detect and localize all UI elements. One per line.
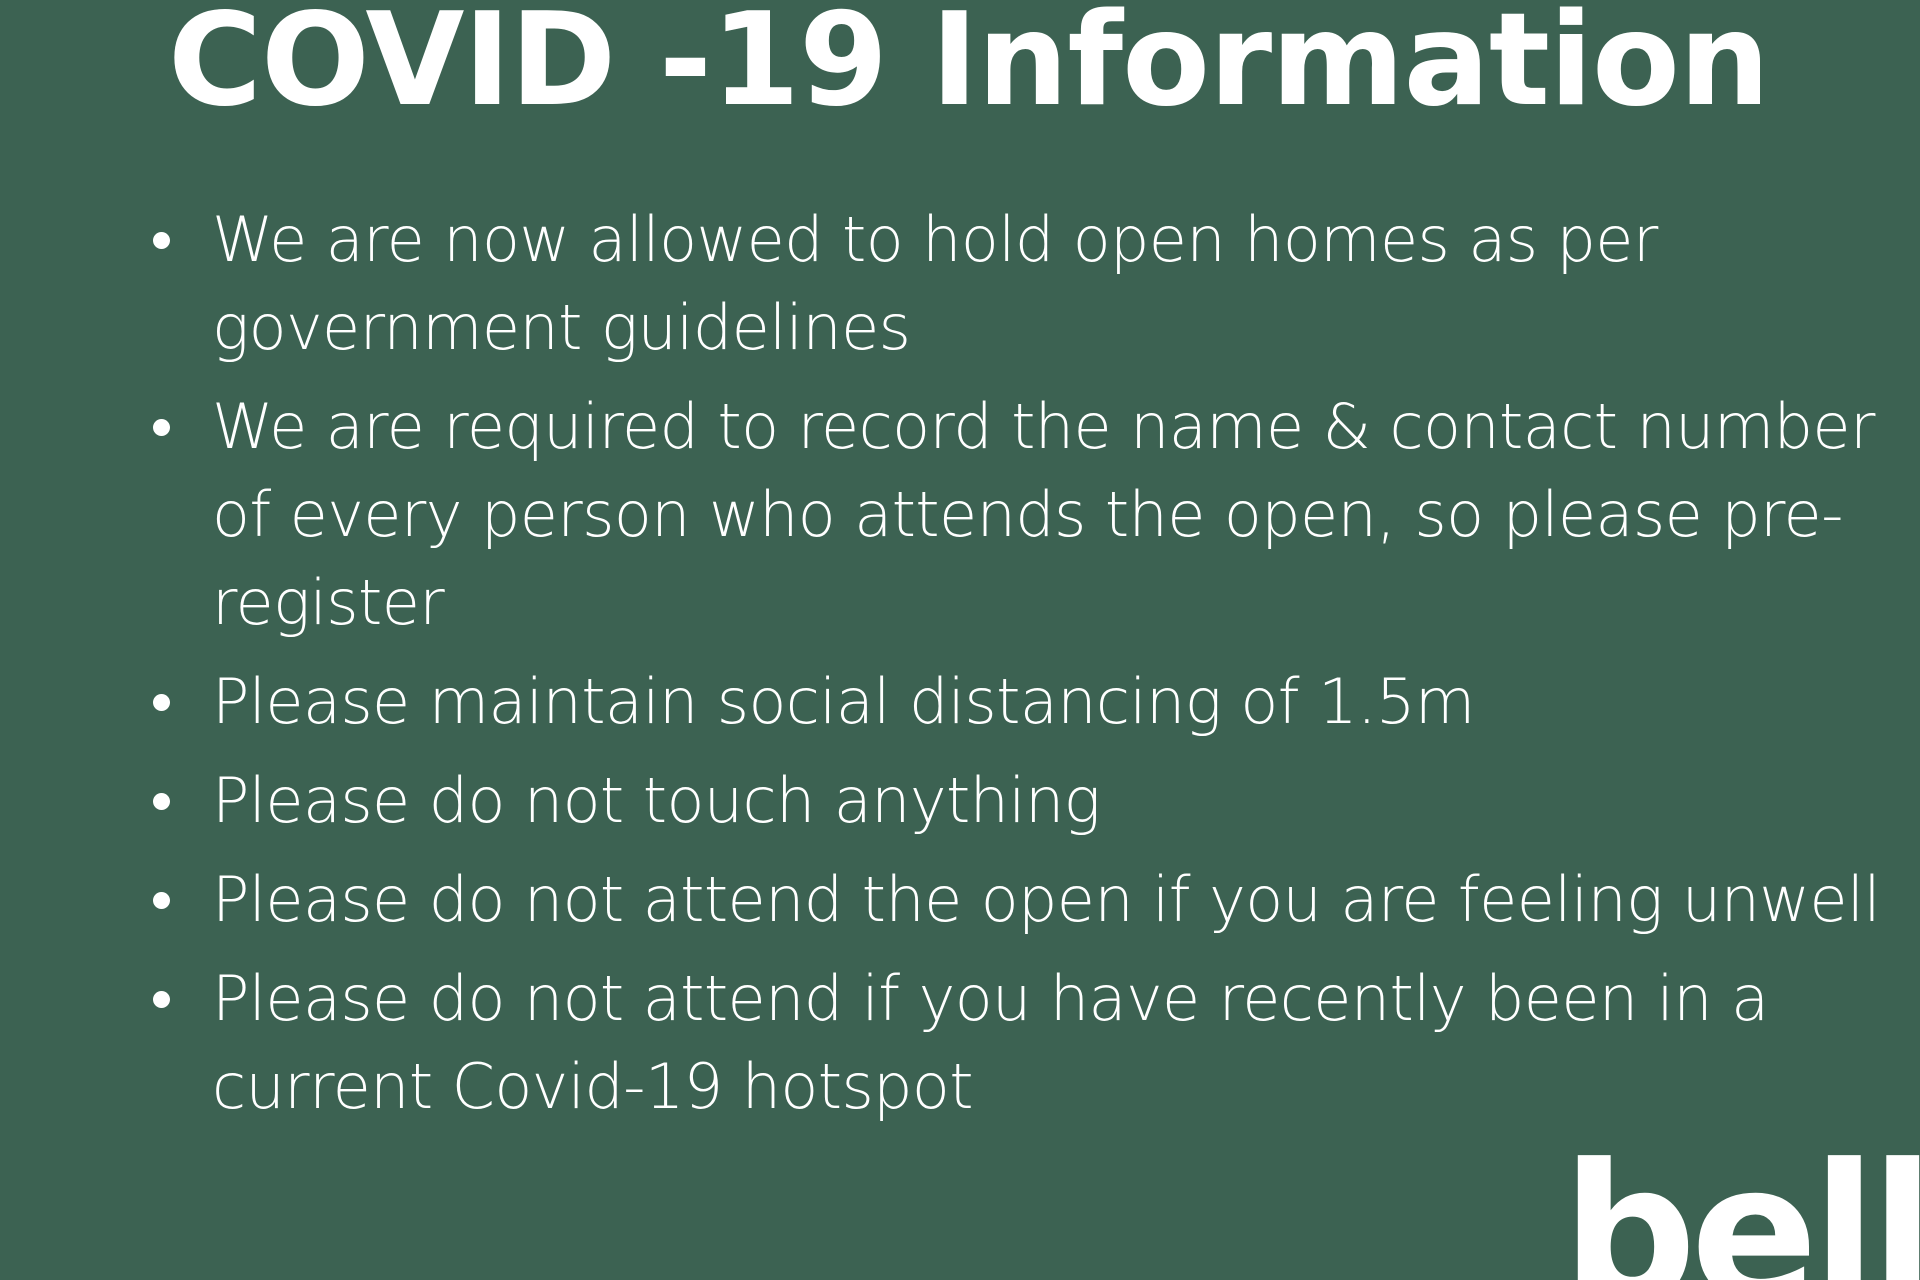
bullet-dot-icon [153,991,170,1008]
bullet-dot-icon [153,694,170,711]
list-item-text: We are required to record the name & con… [212,383,1888,647]
list-item: Please do not touch anything [128,757,1888,845]
list-item: We are now allowed to hold open homes as… [128,196,1888,372]
covid-guidelines-list: We are now allowed to hold open homes as… [128,196,1888,1142]
bullet-dot-icon [153,232,170,249]
list-item-text: Please do not touch anything [212,757,1888,845]
list-item-text: Please do not attend if you have recentl… [212,955,1888,1131]
bullet-dot-icon [153,892,170,909]
list-item-text: We are now allowed to hold open homes as… [212,196,1888,372]
list-item: We are required to record the name & con… [128,383,1888,647]
page-title: COVID -19 Information [168,0,1868,136]
bullet-dot-icon [153,419,170,436]
list-item-text: Please maintain social distancing of 1.5… [212,658,1888,746]
bullet-dot-icon [153,793,170,810]
list-item: Please do not attend the open if you are… [128,856,1888,944]
list-item-text: Please do not attend the open if you are… [212,856,1888,944]
belle-logo: belle [1562,1140,1920,1280]
covid-information-poster: COVID -19 Information We are now allowed… [0,0,1920,1280]
list-item: Please maintain social distancing of 1.5… [128,658,1888,746]
list-item: Please do not attend if you have recentl… [128,955,1888,1131]
